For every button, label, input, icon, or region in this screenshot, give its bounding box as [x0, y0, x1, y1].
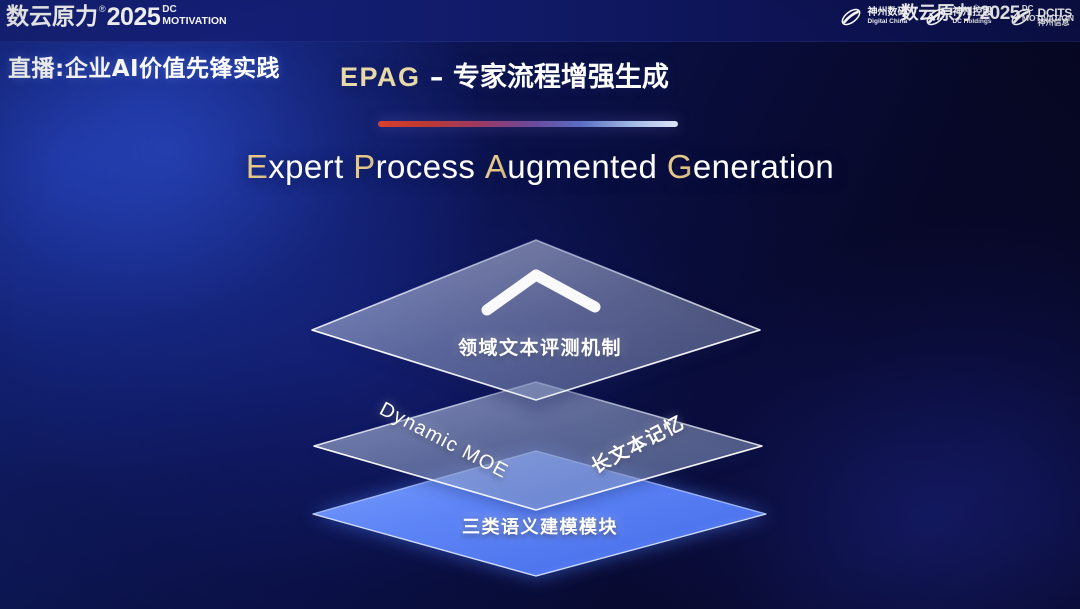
headline-cap-a: A: [485, 148, 507, 185]
top-layer-shadow: [318, 248, 756, 412]
headline-rest-expert: xpert: [268, 148, 343, 185]
bottom-layer-glow: [312, 450, 770, 578]
brand-logo: 数云原力 ® 2025 DC MOTIVATION: [6, 4, 227, 30]
presentation-slide: 数云原力 ® 2025 DC MOTIVATION 神州数码 Digital C…: [0, 0, 1080, 609]
footer-brand-chinese: 数云原力: [900, 4, 972, 24]
footer-brand-year: 2025: [980, 4, 1020, 24]
headline-rest-augmented: ugmented: [507, 148, 657, 185]
partner-logo-digital-china: 神州数码 Digital China: [839, 5, 907, 29]
gradient-divider: [378, 121, 678, 127]
swirl-logo-icon: [839, 5, 863, 29]
slide-title-accent: EPAG: [340, 62, 421, 92]
headline-rest-generation: eneration: [693, 148, 834, 185]
brand-logo-registered-mark: ®: [99, 4, 106, 15]
layer-top: [312, 240, 760, 400]
footer-brand-registered-mark: ®: [973, 4, 978, 13]
brand-logo-dc-motivation: DC MOTIVATION: [162, 5, 226, 27]
layer-bottom: [313, 451, 766, 576]
headline-cap-e: E: [246, 148, 268, 185]
footer-brand-dc-line2: MOTIVATION: [1022, 14, 1074, 23]
footer-brand-dc-motivation: DC MOTIVATION: [1022, 5, 1074, 23]
brand-logo-dc-line2: MOTIVATION: [162, 16, 226, 27]
brand-logo-chinese: 数云原力: [6, 4, 98, 30]
slide-title-rest: – 专家流程增强生成: [421, 62, 669, 93]
footer-brand-dc-line1: DC: [1022, 5, 1074, 13]
headline-cap-p: P: [353, 148, 375, 185]
brand-logo-year: 2025: [107, 4, 161, 30]
live-stream-title: 直播:企业AI价值先锋实践: [8, 49, 280, 83]
headline-cap-g: G: [667, 148, 693, 185]
middle-layer-shadow: [316, 388, 760, 516]
layer-middle: [314, 382, 762, 510]
footer-brand-watermark: 数云原力 ® 2025 DC MOTIVATION: [900, 4, 1074, 605]
headline-rest-process: rocess: [376, 148, 476, 185]
layer-middle-label-right: 长文本记忆: [586, 408, 689, 479]
brand-logo-dc-line1: DC: [162, 5, 226, 15]
slide-title: EPAG – 专家流程增强生成: [340, 55, 669, 94]
layer-middle-label-left: Dynamic MOE: [375, 398, 512, 484]
chevron-up-icon: [487, 275, 595, 310]
